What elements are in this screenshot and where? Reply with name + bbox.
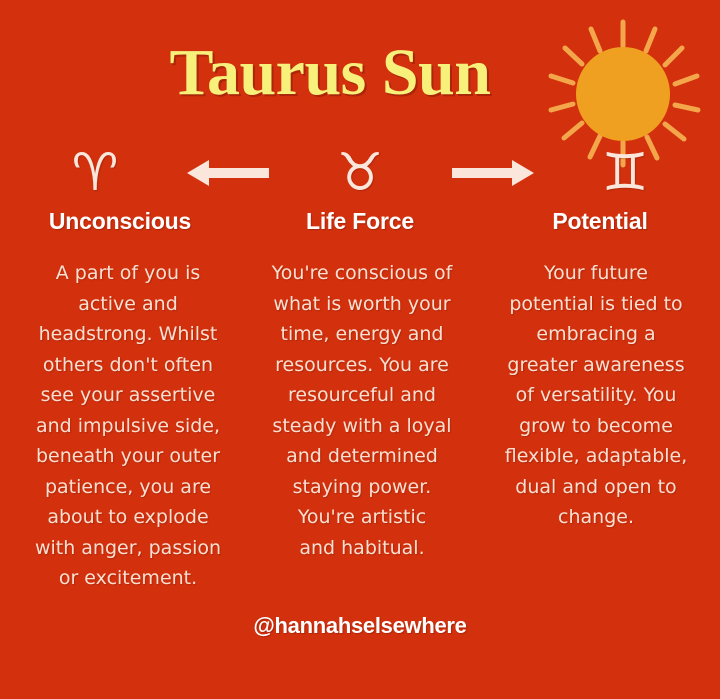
page-title: Taurus Sun [0,38,720,108]
body-line: flexible, adaptable, [482,441,710,472]
column-body-unconscious: A part of you is active and headstrong. … [0,258,246,594]
column-body-life-force: You're conscious of what is worth your t… [246,258,478,563]
body-line: and habitual. [248,533,476,564]
column-body-row: A part of you is active and headstrong. … [0,258,720,594]
body-line: change. [482,502,710,533]
taurus-glyph: ♉ [285,144,435,202]
column-label-life-force: Life Force [240,208,480,235]
body-line: You're conscious of [248,258,476,289]
body-line: steady with a loyal [248,411,476,442]
zodiac-progression-row: ♈ ♉ ♊ [0,142,720,204]
body-line: greater awareness [482,350,710,381]
body-line: beneath your outer [14,441,242,472]
body-line: about to explode [14,502,242,533]
body-line: with anger, passion [14,533,242,564]
body-line: of versatility. You [482,380,710,411]
column-label-unconscious: Unconscious [0,208,240,235]
taurus-sun-infographic: Taurus Sun ♈ ♉ ♊ Unconscious Life Force … [0,0,720,699]
body-line: grow to become [482,411,710,442]
aries-glyph: ♈ [20,144,170,202]
body-line: time, energy and [248,319,476,350]
body-line: others don't often [14,350,242,381]
column-label-row: Unconscious Life Force Potential [0,208,720,235]
body-line: You're artistic [248,502,476,533]
body-line: and impulsive side, [14,411,242,442]
gemini-glyph: ♊ [550,144,700,202]
body-line: see your assertive [14,380,242,411]
body-line: potential is tied to [482,289,710,320]
body-line: staying power. [248,472,476,503]
arrow-left-icon [170,156,285,190]
arrow-right-icon [435,156,550,190]
body-line: headstrong. Whilst [14,319,242,350]
body-line: embracing a [482,319,710,350]
column-body-potential: Your future potential is tied to embraci… [478,258,720,533]
body-line: Your future [482,258,710,289]
body-line: or excitement. [14,563,242,594]
body-line: and determined [248,441,476,472]
body-line: active and [14,289,242,320]
body-line: dual and open to [482,472,710,503]
body-line: A part of you is [14,258,242,289]
body-line: what is worth your [248,289,476,320]
body-line: resourceful and [248,380,476,411]
column-label-potential: Potential [480,208,720,235]
body-line: resources. You are [248,350,476,381]
author-handle: @hannahselsewhere [0,613,720,639]
body-line: patience, you are [14,472,242,503]
